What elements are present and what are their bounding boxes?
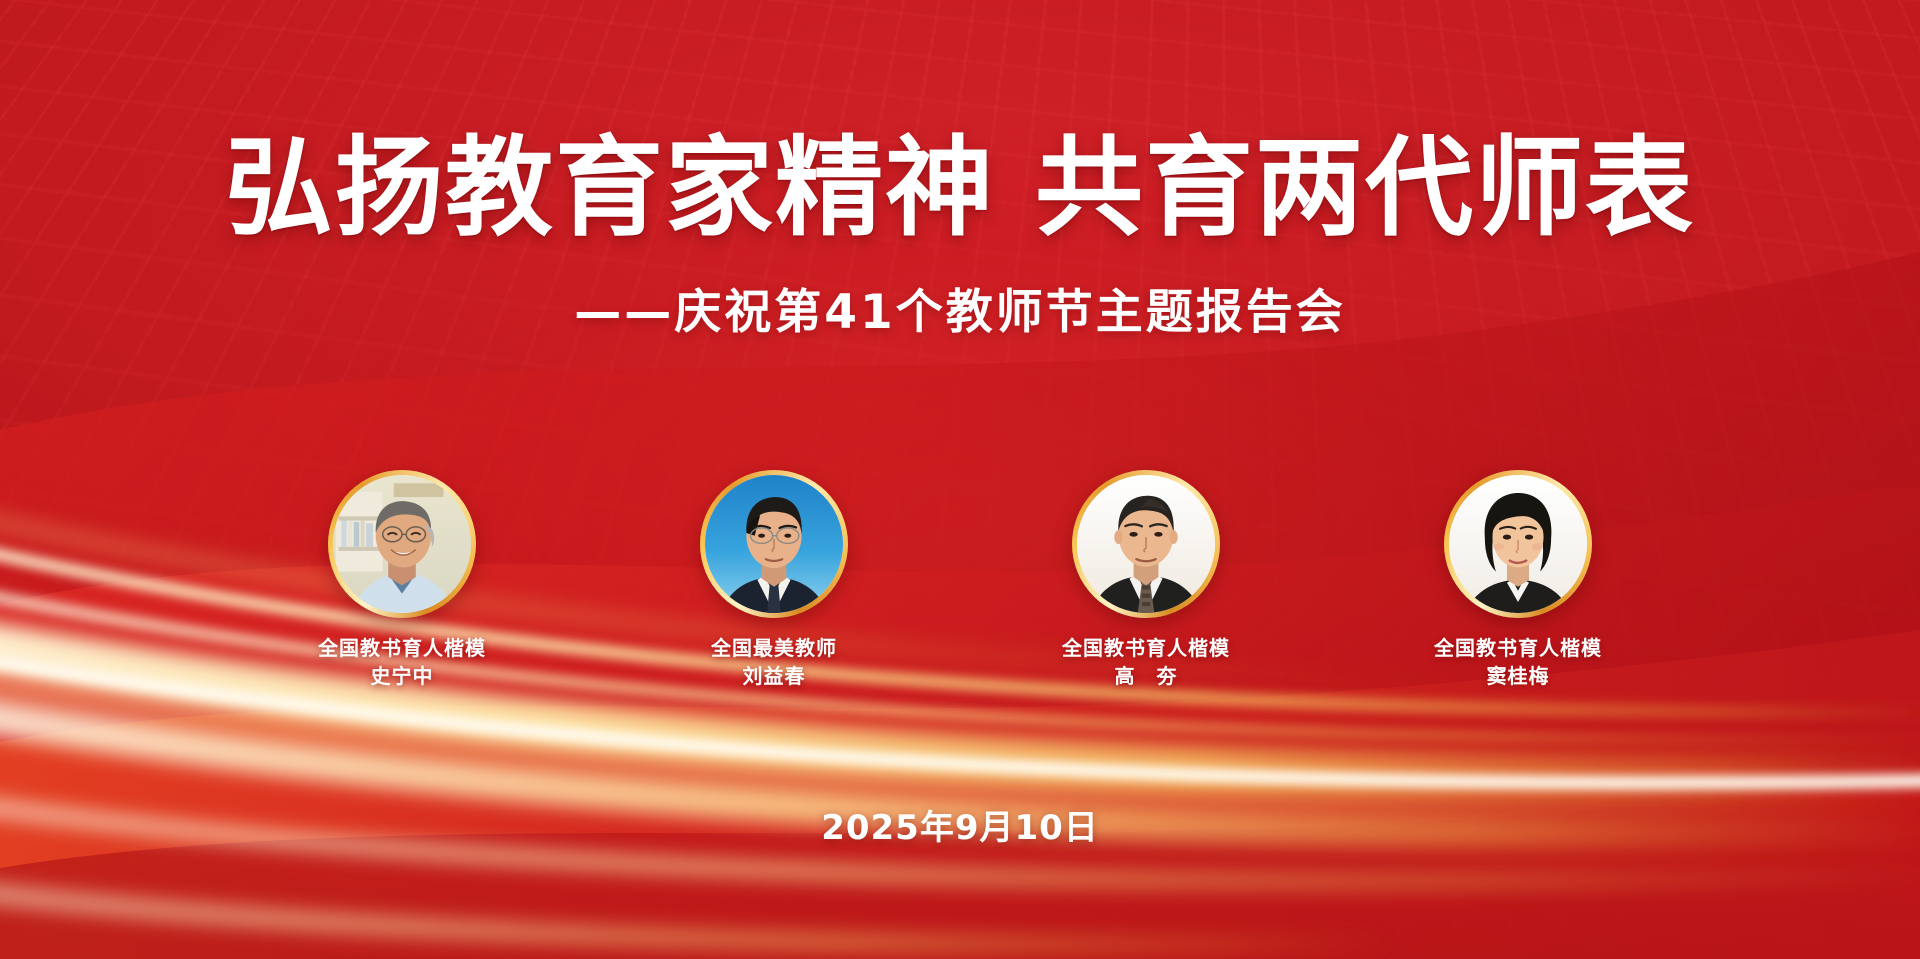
- title-part-two: 共育两代师表: [1035, 125, 1695, 251]
- avatar: [700, 470, 848, 618]
- honoree-item: 全国教书育人楷模 史宁中: [302, 470, 502, 691]
- honoree-item: 全国教书育人楷模 窦桂梅: [1418, 470, 1618, 691]
- avatar: [1072, 470, 1220, 618]
- honoree-role: 全国教书育人楷模: [302, 634, 502, 662]
- honoree-role: 全国教书育人楷模: [1418, 634, 1618, 662]
- portrait-gao-hang: [1077, 475, 1215, 613]
- honoree-name: 高 夯: [1046, 662, 1246, 690]
- poster-canvas: 弘扬教育家精神共育两代师表 ——庆祝第41个教师节主题报告会: [0, 0, 1920, 959]
- honoree-name: 刘益春: [674, 662, 874, 690]
- honoree-name: 史宁中: [302, 662, 502, 690]
- title-part-one: 弘扬教育家精神: [225, 125, 995, 251]
- avatar: [1444, 470, 1592, 618]
- portrait-shi-ningzhong: [333, 475, 471, 613]
- honoree-role: 全国教书育人楷模: [1046, 634, 1246, 662]
- portrait-dou-guimei: [1449, 475, 1587, 613]
- honoree-role: 全国最美教师: [674, 634, 874, 662]
- portrait-liu-yichun: [705, 475, 843, 613]
- page-subtitle: ——庆祝第41个教师节主题报告会: [0, 273, 1920, 342]
- honoree-item: 全国最美教师 刘益春: [674, 470, 874, 691]
- page-title: 弘扬教育家精神共育两代师表: [0, 128, 1920, 249]
- avatar: [328, 470, 476, 618]
- honoree-list: 全国教书育人楷模 史宁中: [0, 470, 1920, 691]
- honoree-name: 窦桂梅: [1418, 662, 1618, 690]
- title-block: 弘扬教育家精神共育两代师表 ——庆祝第41个教师节主题报告会: [0, 128, 1920, 342]
- event-date: 2025年9月10日: [0, 800, 1920, 849]
- honoree-item: 全国教书育人楷模 高 夯: [1046, 470, 1246, 691]
